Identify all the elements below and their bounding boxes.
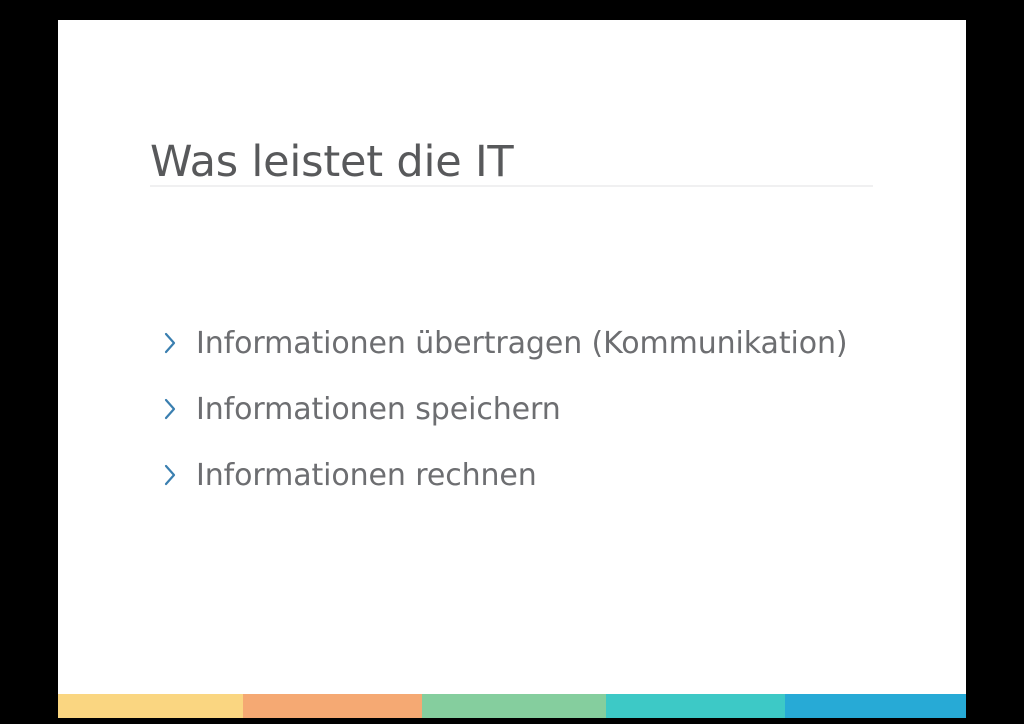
bullet-list: Informationen übertragen (Kommunikation)… (150, 310, 930, 508)
slide-content-area: Was leistet die IT Informationen übertra… (58, 20, 966, 718)
list-item: Informationen rechnen (150, 442, 930, 508)
accent-segment-blue (785, 694, 966, 718)
slide-canvas: Was leistet die IT Informationen übertra… (58, 20, 966, 718)
page-title: Was leistet die IT (150, 139, 514, 186)
accent-segment-yellow (58, 694, 243, 718)
list-item-label: Informationen übertragen (Kommunikation) (196, 326, 848, 361)
accent-segment-green (422, 694, 605, 718)
list-item: Informationen speichern (150, 376, 930, 442)
chevron-right-icon (150, 332, 196, 354)
accent-segment-teal (606, 694, 786, 718)
list-item-label: Informationen speichern (196, 392, 561, 427)
title-divider (150, 185, 873, 187)
accent-segment-orange (243, 694, 422, 718)
list-item: Informationen übertragen (Kommunikation) (150, 310, 930, 376)
presentation-stage: Was leistet die IT Informationen übertra… (0, 0, 1024, 724)
chevron-right-icon (150, 464, 196, 486)
accent-bar (58, 694, 966, 718)
chevron-right-icon (150, 398, 196, 420)
list-item-label: Informationen rechnen (196, 458, 537, 493)
